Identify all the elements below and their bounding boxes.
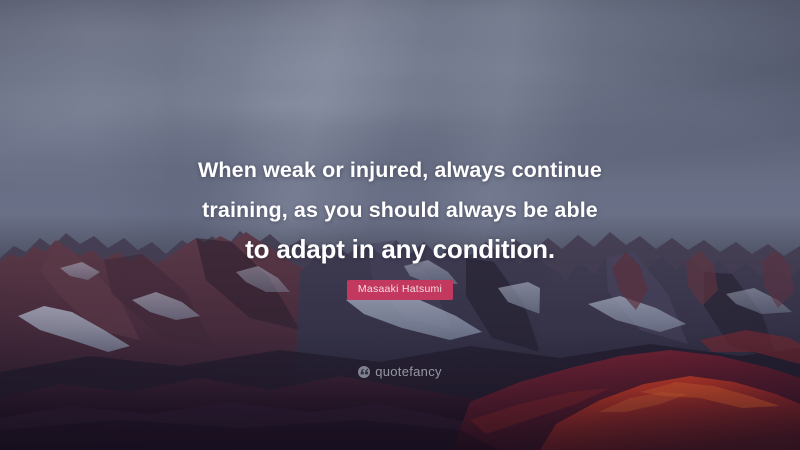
bottom-shade-overlay — [0, 330, 800, 450]
quote-image: When weak or injured, always continue tr… — [0, 0, 800, 450]
watermark: quotefancy — [0, 364, 800, 379]
quote-badge-icon — [358, 366, 370, 378]
quote-line-1: When weak or injured, always continue — [80, 150, 720, 190]
watermark-brand: quotefancy — [375, 364, 442, 379]
quote-line-2: training, as you should always be able — [80, 190, 720, 230]
quote-line-3: to adapt in any condition. — [80, 230, 720, 268]
quote-text-block: When weak or injured, always continue tr… — [0, 150, 800, 268]
author-name-badge: Masaaki Hatsumi — [347, 280, 453, 300]
author-attribution: Masaaki Hatsumi — [0, 279, 800, 300]
